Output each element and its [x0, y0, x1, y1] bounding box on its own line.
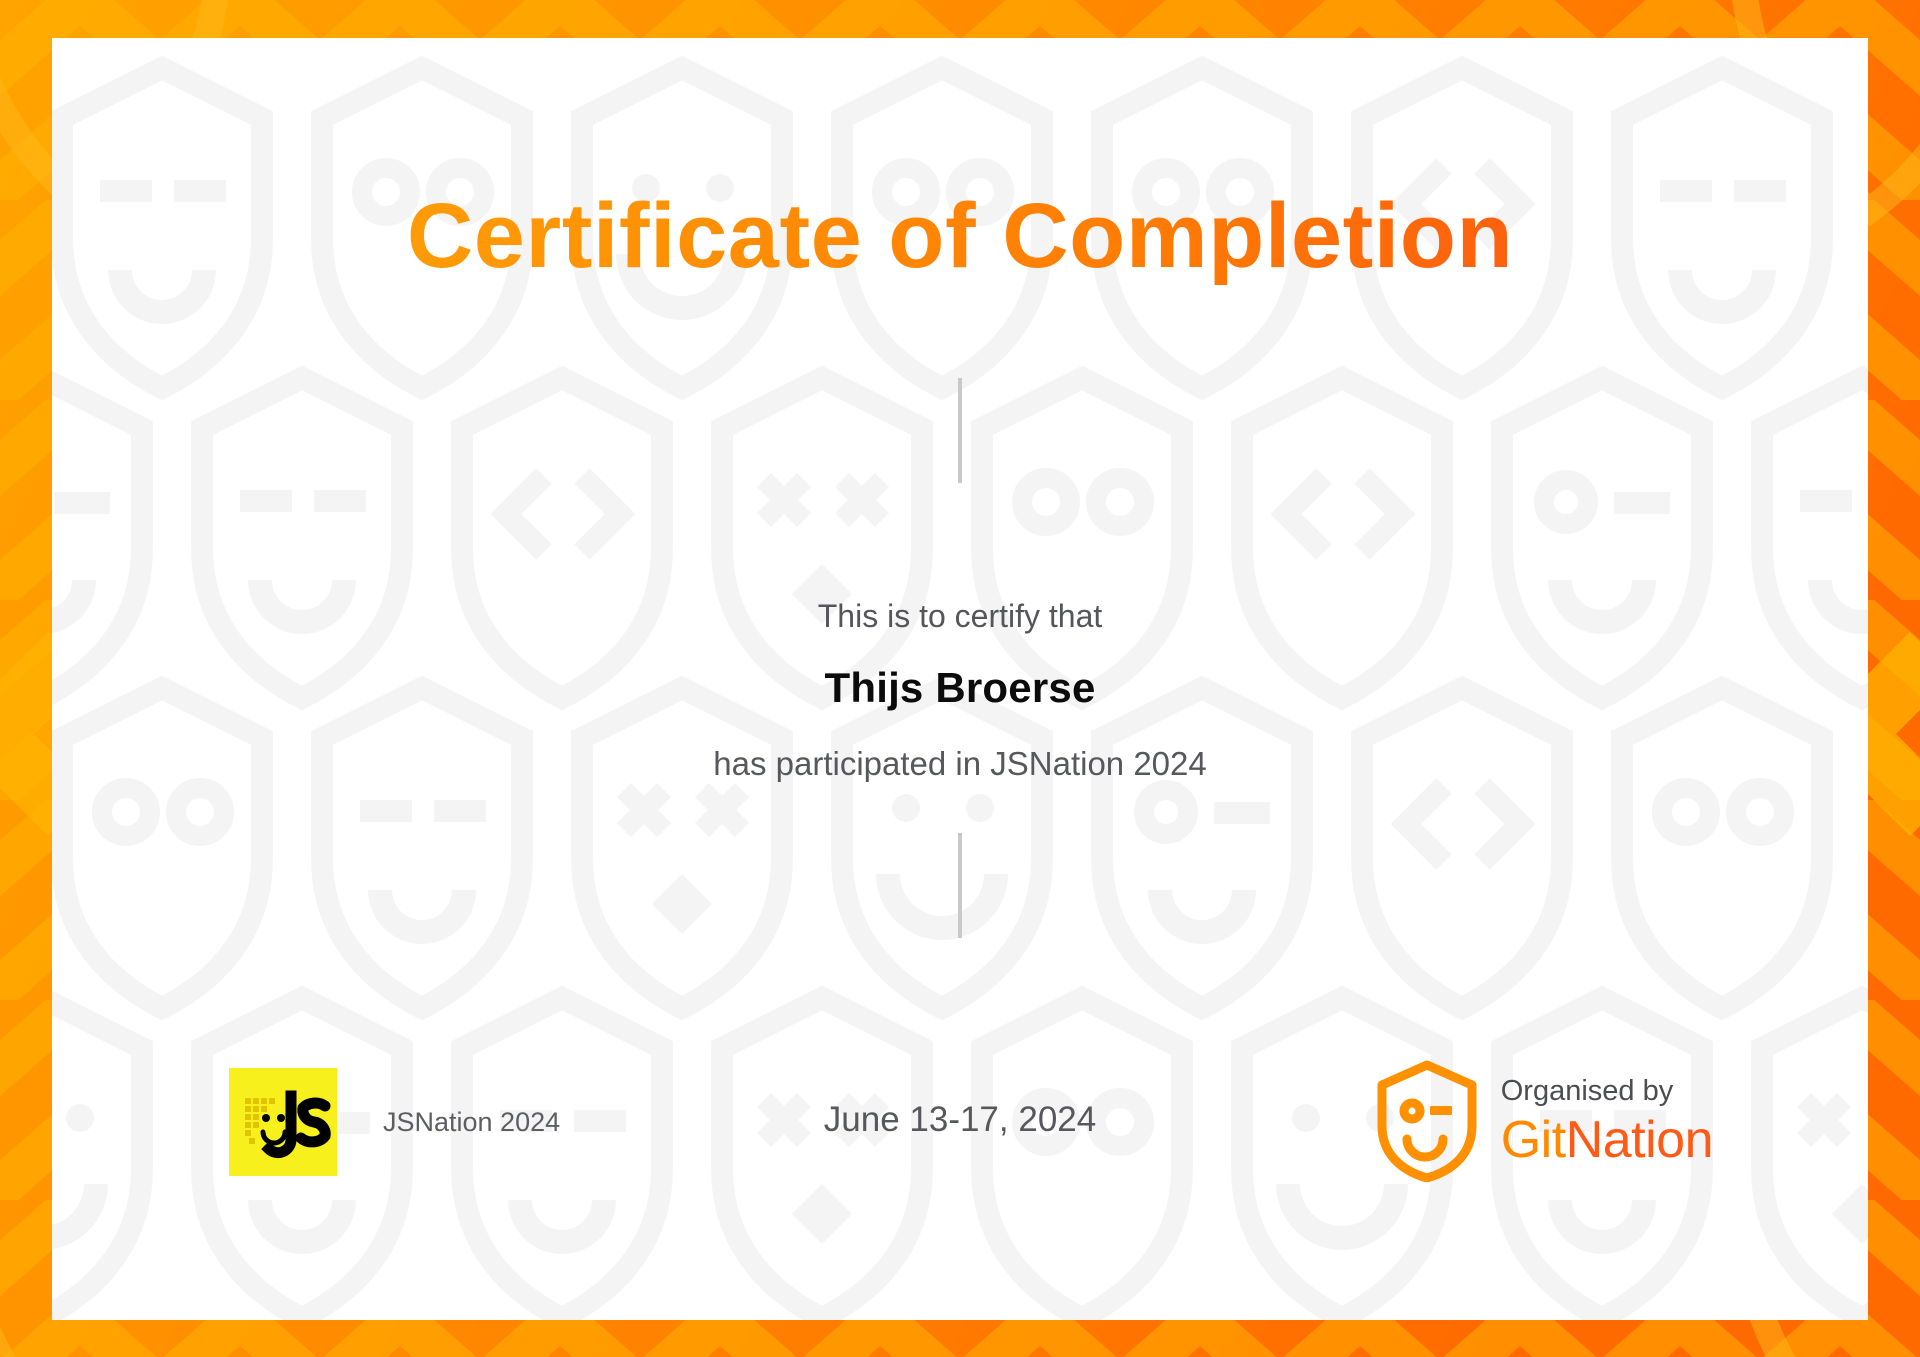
- gitnation-shield-icon: [1375, 1060, 1479, 1182]
- organiser-name-git: Git: [1501, 1111, 1566, 1169]
- organiser-name-nation: Nation: [1566, 1111, 1713, 1169]
- divider-bottom: [958, 833, 962, 938]
- recipient-name: Thijs Broerse: [52, 664, 1868, 712]
- organiser-name: GitNation: [1501, 1114, 1713, 1166]
- certificate-footer: JSNation 2024 June 13-17, 2024: [52, 1048, 1868, 1198]
- certify-line: This is to certify that: [52, 598, 1868, 635]
- certificate-frame: Certificate of Completion This is to cer…: [0, 0, 1920, 1357]
- certificate-card: Certificate of Completion This is to cer…: [52, 38, 1868, 1320]
- organised-by-label: Organised by: [1501, 1077, 1713, 1106]
- page-title: Certificate of Completion: [52, 188, 1868, 285]
- organiser-block: Organised by GitNation: [1375, 1060, 1713, 1182]
- participation-line: has participated in JSNation 2024: [52, 745, 1868, 783]
- divider-top: [958, 378, 962, 483]
